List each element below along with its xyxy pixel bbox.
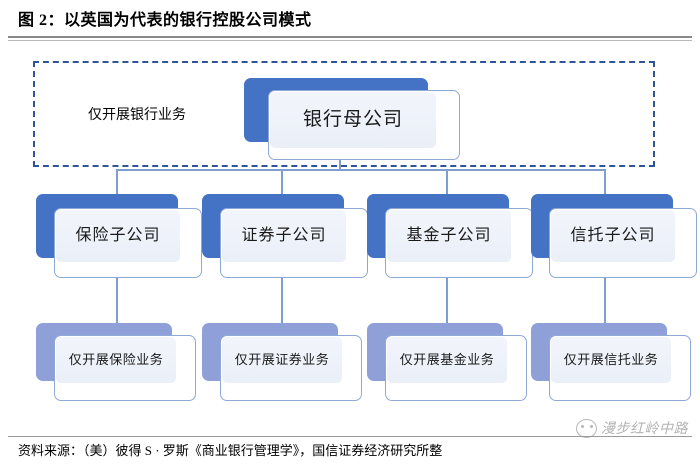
node-subsidiary-trust[interactable]: 信托子公司 (531, 194, 697, 278)
node-face: 银行母公司 (268, 90, 460, 160)
node-subsidiary-fund[interactable]: 基金子公司 (367, 194, 533, 278)
node-subsidiary-securities[interactable]: 证券子公司 (202, 194, 368, 278)
node-inner: 仅开展保险业务 (56, 337, 176, 383)
title-rule-top (8, 36, 692, 38)
connector-horizontal-bus (116, 169, 604, 171)
node-business-securities[interactable]: 仅开展证券业务 (202, 323, 362, 401)
node-inner: 信托子公司 (551, 210, 675, 262)
node-face: 保险子公司 (54, 208, 202, 278)
node-face: 仅开展保险业务 (54, 335, 196, 401)
node-subsidiary-insurance[interactable]: 保险子公司 (36, 194, 202, 278)
connector-drop-fund (446, 169, 448, 196)
node-business-trust[interactable]: 仅开展信托业务 (531, 323, 691, 401)
node-inner: 基金子公司 (387, 210, 511, 262)
connector-link-insurance (116, 278, 118, 325)
node-label: 银行母公司 (303, 110, 403, 130)
source-note: 资料来源：（美）彼得 S · 罗斯《商业银行管理学》，国信证券经济研究所整 (18, 441, 442, 461)
node-label: 仅开展基金业务 (400, 350, 495, 370)
node-inner: 证券子公司 (222, 210, 346, 262)
smiley-face-icon (576, 419, 597, 438)
watermark-label: 漫步红岭中路 (601, 418, 688, 438)
connector-link-fund (446, 278, 448, 325)
node-business-insurance[interactable]: 仅开展保险业务 (36, 323, 196, 401)
node-label: 保险子公司 (75, 226, 160, 246)
node-face: 仅开展基金业务 (385, 335, 527, 401)
org-chart-diagram: 仅开展银行业务 银行母公司 保险子公司 证券子公司 (0, 44, 700, 416)
node-face: 基金子公司 (385, 208, 533, 278)
node-label: 仅开展信托业务 (564, 350, 659, 370)
connector-link-trust (604, 278, 606, 325)
connector-link-securities (281, 278, 283, 325)
node-inner: 银行母公司 (270, 92, 436, 148)
node-face: 证券子公司 (220, 208, 368, 278)
node-inner: 仅开展证券业务 (222, 337, 342, 383)
footer-rule (8, 436, 692, 437)
connector-drop-securities (281, 169, 283, 196)
page-title: 图 2：以英国为代表的银行控股公司模式 (18, 10, 312, 32)
node-business-fund[interactable]: 仅开展基金业务 (367, 323, 527, 401)
node-inner: 仅开展信托业务 (551, 337, 671, 383)
connector-drop-trust (604, 169, 606, 196)
connector-drop-insurance (116, 169, 118, 196)
node-label: 信托子公司 (570, 226, 655, 246)
node-face: 信托子公司 (549, 208, 697, 278)
node-inner: 仅开展基金业务 (387, 337, 507, 383)
bank-only-note-label: 仅开展银行业务 (72, 107, 202, 125)
node-label: 仅开展证券业务 (235, 350, 330, 370)
node-parent-company[interactable]: 银行母公司 (244, 78, 460, 160)
node-face: 仅开展证券业务 (220, 335, 362, 401)
figure-title-bar: 图 2：以英国为代表的银行控股公司模式 (8, 10, 692, 42)
node-inner: 保险子公司 (56, 210, 180, 262)
node-face: 仅开展信托业务 (549, 335, 691, 401)
node-label: 基金子公司 (406, 226, 491, 246)
title-rule-bottom (8, 40, 692, 41)
node-label: 证券子公司 (241, 226, 326, 246)
node-label: 仅开展保险业务 (69, 350, 164, 370)
